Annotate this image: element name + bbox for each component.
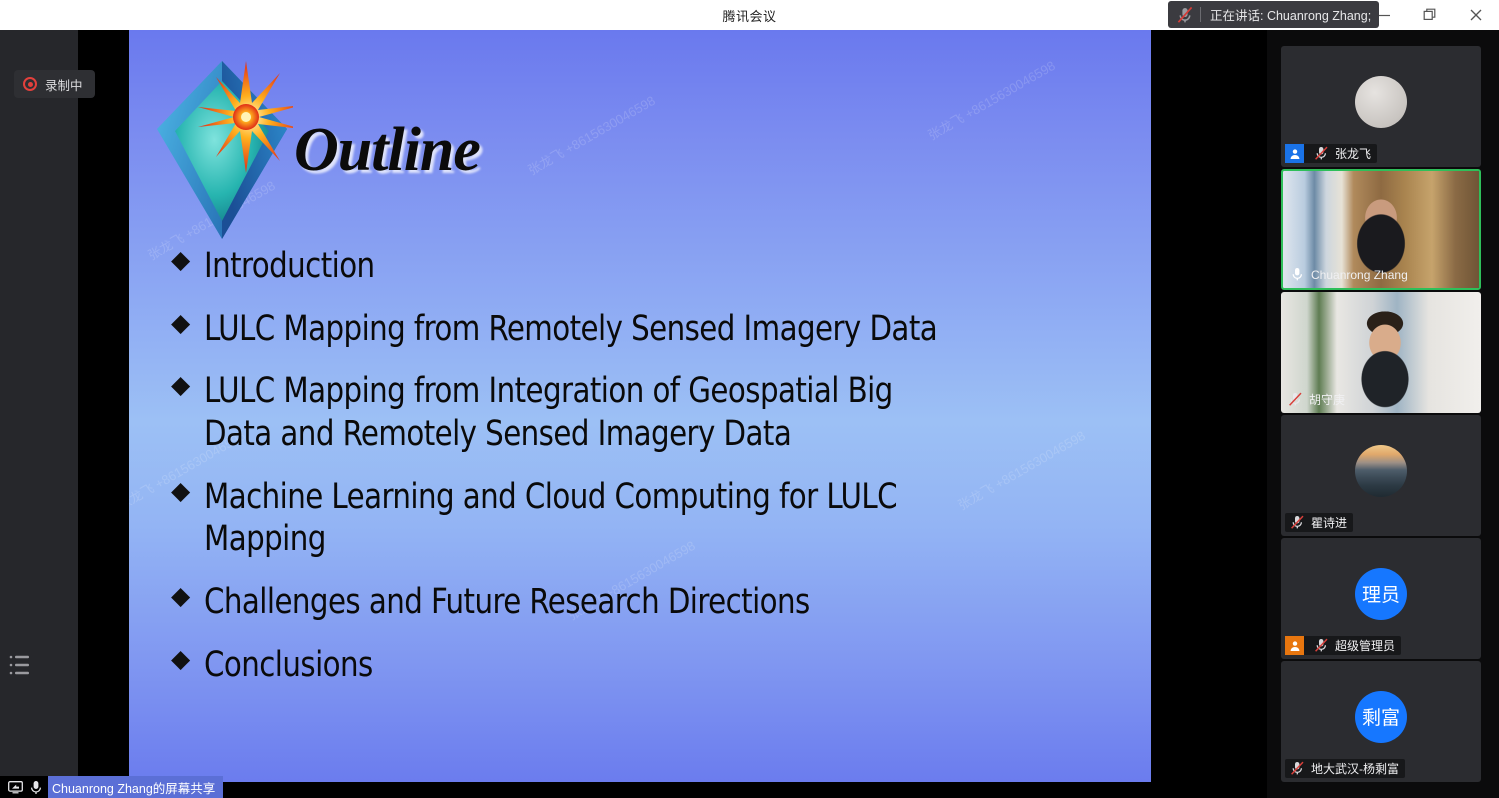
diamond-starburst-icon: [151, 55, 293, 245]
list-menu-icon[interactable]: [9, 652, 31, 678]
shared-screen-stage: 录制中 张龙飞 +8615630046598 张龙飞 +861563004659…: [0, 30, 1267, 798]
participant-tile[interactable]: 胡守庚: [1281, 292, 1481, 413]
share-bar-icons: [0, 776, 48, 798]
participant-namebar: 张龙飞: [1285, 144, 1377, 163]
bullet-marker-icon: ◆: [171, 310, 190, 337]
share-bar-label: Chuanrong Zhang的屏幕共享: [48, 776, 223, 798]
bullet-marker-icon: ◆: [171, 372, 190, 399]
person-badge-icon: [1285, 144, 1304, 163]
person-badge-icon: [1285, 636, 1304, 655]
app-title: 腾讯会议: [722, 6, 776, 25]
default-avatar-icon: [1355, 76, 1407, 128]
bullet-text: Machine Learning and Cloud Computing for…: [204, 476, 897, 561]
recording-label: 录制中: [45, 75, 83, 94]
bullet-text: LULC Mapping from Integration of Geospat…: [204, 370, 893, 455]
restore-button[interactable]: [1407, 0, 1453, 30]
record-dot-icon: [23, 77, 37, 91]
participant-tile[interactable]: 瞿诗进: [1281, 415, 1481, 536]
watermark: 张龙飞 +8615630046598: [524, 90, 658, 179]
participants-panel[interactable]: 张龙飞 Chuanrong Zhang: [1267, 30, 1499, 798]
participant-name: 胡守庚: [1309, 391, 1345, 408]
speaking-status-pill[interactable]: 正在讲话: Chuanrong Zhang;: [1168, 1, 1379, 28]
bullet-text: Introduction: [204, 245, 375, 288]
bullet-marker-icon: ◆: [171, 583, 190, 610]
bullet-marker-icon: ◆: [171, 478, 190, 505]
mic-muted-icon: [1287, 391, 1304, 408]
participant-namebar: 瞿诗进: [1285, 513, 1353, 532]
bullet-item: ◆ Introduction: [171, 245, 1151, 288]
participant-name: Chuanrong Zhang: [1311, 268, 1408, 282]
bullet-text: LULC Mapping from Remotely Sensed Imager…: [204, 308, 937, 351]
participant-namebar: 超级管理员: [1285, 636, 1401, 655]
bullet-item: ◆ Conclusions: [171, 644, 1151, 687]
minimize-button[interactable]: [1361, 0, 1407, 30]
mic-muted-icon: [1174, 5, 1196, 25]
presentation-slide: 张龙飞 +8615630046598 张龙飞 +8615630046598 张龙…: [129, 30, 1151, 782]
screen-share-icon: [8, 781, 23, 794]
mic-muted-icon: [1289, 514, 1306, 531]
window-controls: [1361, 0, 1499, 30]
mic-muted-icon: [1313, 145, 1330, 162]
bullet-text: Conclusions: [204, 644, 373, 687]
photo-avatar-icon: [1355, 445, 1407, 497]
participant-tile[interactable]: Chuanrong Zhang: [1281, 169, 1481, 290]
initials-avatar-icon: 理员: [1355, 568, 1407, 620]
left-rail: [0, 30, 78, 798]
speaking-status-text: 正在讲话: Chuanrong Zhang;: [1210, 5, 1371, 24]
participant-name: 瞿诗进: [1311, 514, 1347, 531]
participant-tile[interactable]: 理员 超级管理员: [1281, 538, 1481, 659]
screen-share-bar: Chuanrong Zhang的屏幕共享: [0, 776, 223, 798]
close-button[interactable]: [1453, 0, 1499, 30]
bullet-item: ◆ LULC Mapping from Remotely Sensed Imag…: [171, 308, 1151, 351]
mic-muted-icon: [1313, 637, 1330, 654]
bullet-marker-icon: ◆: [171, 646, 190, 673]
bullet-item: ◆ Challenges and Future Research Directi…: [171, 581, 1151, 624]
participant-name: 张龙飞: [1335, 145, 1371, 162]
participant-namebar: 地大武汉-杨剩富: [1285, 759, 1405, 778]
bullet-text: Challenges and Future Research Direction…: [204, 581, 810, 624]
participant-tile[interactable]: 张龙飞: [1281, 46, 1481, 167]
bullet-item: ◆ Machine Learning and Cloud Computing f…: [171, 476, 1151, 561]
slide-title: Outline: [294, 115, 480, 186]
participant-namebar: Chuanrong Zhang: [1287, 265, 1414, 284]
recording-badge[interactable]: 录制中: [14, 70, 95, 98]
participant-namebar: 胡守庚: [1285, 390, 1351, 409]
mic-on-icon: [1289, 266, 1306, 283]
bullet-marker-icon: ◆: [171, 247, 190, 274]
slide-bullet-list: ◆ Introduction ◆ LULC Mapping from Remot…: [171, 245, 1151, 707]
participant-name: 地大武汉-杨剩富: [1311, 760, 1399, 777]
bullet-item: ◆ LULC Mapping from Integration of Geosp…: [171, 370, 1151, 455]
mic-on-icon: [30, 780, 42, 795]
pill-divider: [1200, 7, 1201, 22]
participant-tile[interactable]: 剩富 地大武汉-杨剩富: [1281, 661, 1481, 782]
mic-muted-icon: [1289, 760, 1306, 777]
watermark: 张龙飞 +8615630046598: [924, 55, 1058, 144]
participant-name: 超级管理员: [1335, 637, 1395, 654]
initials-avatar-icon: 剩富: [1355, 691, 1407, 743]
